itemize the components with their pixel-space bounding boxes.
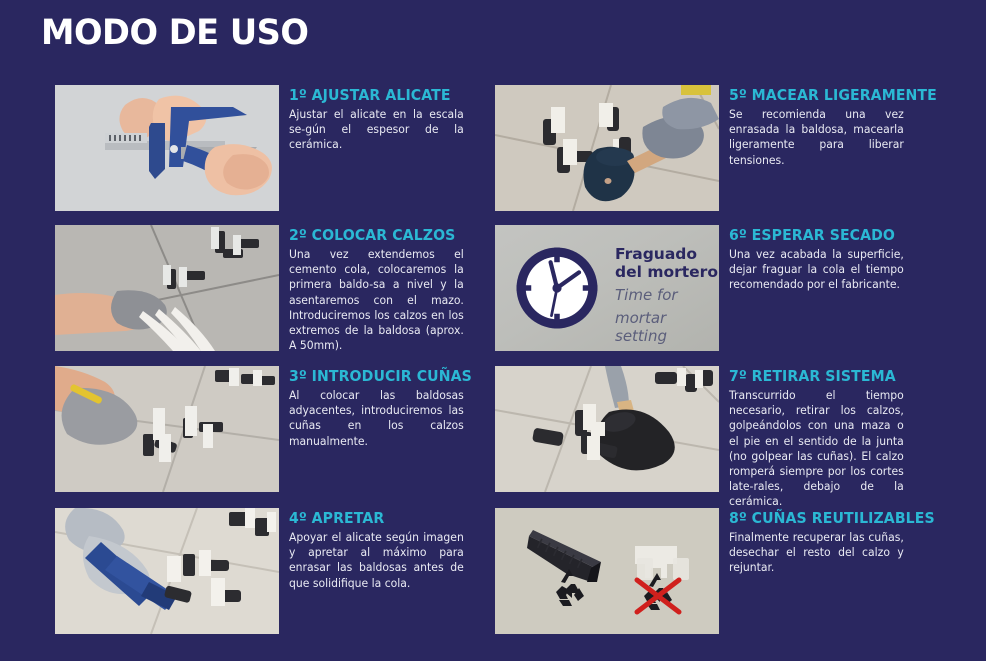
step-body-8: Finalmente recuperar las cuñas, desechar… <box>729 530 904 576</box>
clock-icon <box>511 242 603 334</box>
removing-system-photo <box>495 366 719 492</box>
step-heading-4: 4ºAPRETAR <box>289 509 483 527</box>
step-title-2: COLOCAR CALZOS <box>312 226 456 244</box>
clock-label-en-line1: Time for <box>615 286 719 304</box>
step-card-4: 4ºAPRETAR Apoyar el alicate según imagen… <box>55 508 495 634</box>
step-number-5: 5º <box>729 86 747 104</box>
step-text-5: 5ºMACEAR LIGERAMENTE Se recomienda una v… <box>719 85 950 168</box>
step-heading-3: 3ºINTRODUCIR CUÑAS <box>289 367 483 385</box>
step-text-8: 8ºCUÑAS REUTILIZABLES Finalmente recuper… <box>719 508 948 576</box>
pliers-adjustment-photo <box>55 85 279 211</box>
step-number-7: 7º <box>729 367 747 385</box>
step-heading-2: 2ºCOLOCAR CALZOS <box>289 226 483 244</box>
tapping-mallet-photo <box>495 85 719 211</box>
reusable-wedges-photo <box>495 508 719 634</box>
step-title-3: INTRODUCIR CUÑAS <box>312 367 472 385</box>
step-number-2: 2º <box>289 226 307 244</box>
clock-label-es-line1: Fraguado <box>615 245 719 263</box>
step-title-1: AJUSTAR ALICATE <box>312 86 451 104</box>
clock-label-es-line2: del mortero <box>615 263 719 281</box>
step-title-4: APRETAR <box>312 509 385 527</box>
step-text-3: 3ºINTRODUCIR CUÑAS Al colocar las baldos… <box>279 366 495 449</box>
inserting-wedges-photo <box>55 366 279 492</box>
step-heading-5: 5ºMACEAR LIGERAMENTE <box>729 86 937 104</box>
step-body-7: Transcurrido el tiempo necesario, retira… <box>729 388 904 510</box>
step-title-5: MACEAR LIGERAMENTE <box>752 86 937 104</box>
step-text-7: 7ºRETIRAR SISTEMA Transcurrido el tiempo… <box>719 366 935 510</box>
step-body-2: Una vez extendemos el cemento cola, colo… <box>289 247 464 353</box>
recycle-panel <box>495 508 719 634</box>
steps-grid: 1ºAJUSTAR ALICATE Ajustar el alicate en … <box>0 75 986 661</box>
step-card-2: 2ºCOLOCAR CALZOS Una vez extendemos el c… <box>55 225 495 353</box>
step-text-2: 2ºCOLOCAR CALZOS Una vez extendemos el c… <box>279 225 495 353</box>
clock-labels: Fraguado del mortero Time for mortar set… <box>615 245 719 345</box>
page-title: MODO DE USO <box>41 13 308 53</box>
step-heading-1: 1ºAJUSTAR ALICATE <box>289 86 483 104</box>
step-body-3: Al colocar las baldosas adyacentes, intr… <box>289 388 464 449</box>
step-card-7: 7ºRETIRAR SISTEMA Transcurrido el tiempo… <box>495 366 935 510</box>
step-text-1: 1ºAJUSTAR ALICATE Ajustar el alicate en … <box>279 85 495 153</box>
step-card-3: 3ºINTRODUCIR CUÑAS Al colocar las baldos… <box>55 366 495 492</box>
step-body-5: Se recomienda una vez enrasada la baldos… <box>729 107 904 168</box>
placing-clips-photo <box>55 225 279 351</box>
step-heading-6: 6ºESPERAR SECADO <box>729 226 923 244</box>
clock-label-en-line2: mortar setting <box>615 309 719 345</box>
step-number-6: 6º <box>729 226 747 244</box>
step-number-8: 8º <box>729 509 747 527</box>
step-number-1: 1º <box>289 86 307 104</box>
step-heading-7: 7ºRETIRAR SISTEMA <box>729 367 923 385</box>
step-text-6: 6ºESPERAR SECADO Una vez acabada la supe… <box>719 225 935 293</box>
step-title-8: CUÑAS REUTILIZABLES <box>752 509 935 527</box>
step-card-8: 8ºCUÑAS REUTILIZABLES Finalmente recuper… <box>495 508 935 634</box>
step-body-1: Ajustar el alicate en la escala se-gún e… <box>289 107 464 153</box>
tightening-pliers-photo <box>55 508 279 634</box>
step-number-3: 3º <box>289 367 307 385</box>
mortar-setting-clock-graphic: Fraguado del mortero Time for mortar set… <box>495 225 719 351</box>
step-title-7: RETIRAR SISTEMA <box>752 367 896 385</box>
step-title-6: ESPERAR SECADO <box>752 226 895 244</box>
step-body-4: Apoyar el alicate según imagen y apretar… <box>289 530 464 591</box>
step-body-6: Una vez acabada la superficie, dejar fra… <box>729 247 904 293</box>
clock-panel: Fraguado del mortero Time for mortar set… <box>495 225 719 351</box>
step-text-4: 4ºAPRETAR Apoyar el alicate según imagen… <box>279 508 495 591</box>
step-card-5: 5ºMACEAR LIGERAMENTE Se recomienda una v… <box>495 85 935 211</box>
step-card-1: 1ºAJUSTAR ALICATE Ajustar el alicate en … <box>55 85 495 211</box>
step-heading-8: 8ºCUÑAS REUTILIZABLES <box>729 509 935 527</box>
step-number-4: 4º <box>289 509 307 527</box>
step-card-6: Fraguado del mortero Time for mortar set… <box>495 225 935 351</box>
